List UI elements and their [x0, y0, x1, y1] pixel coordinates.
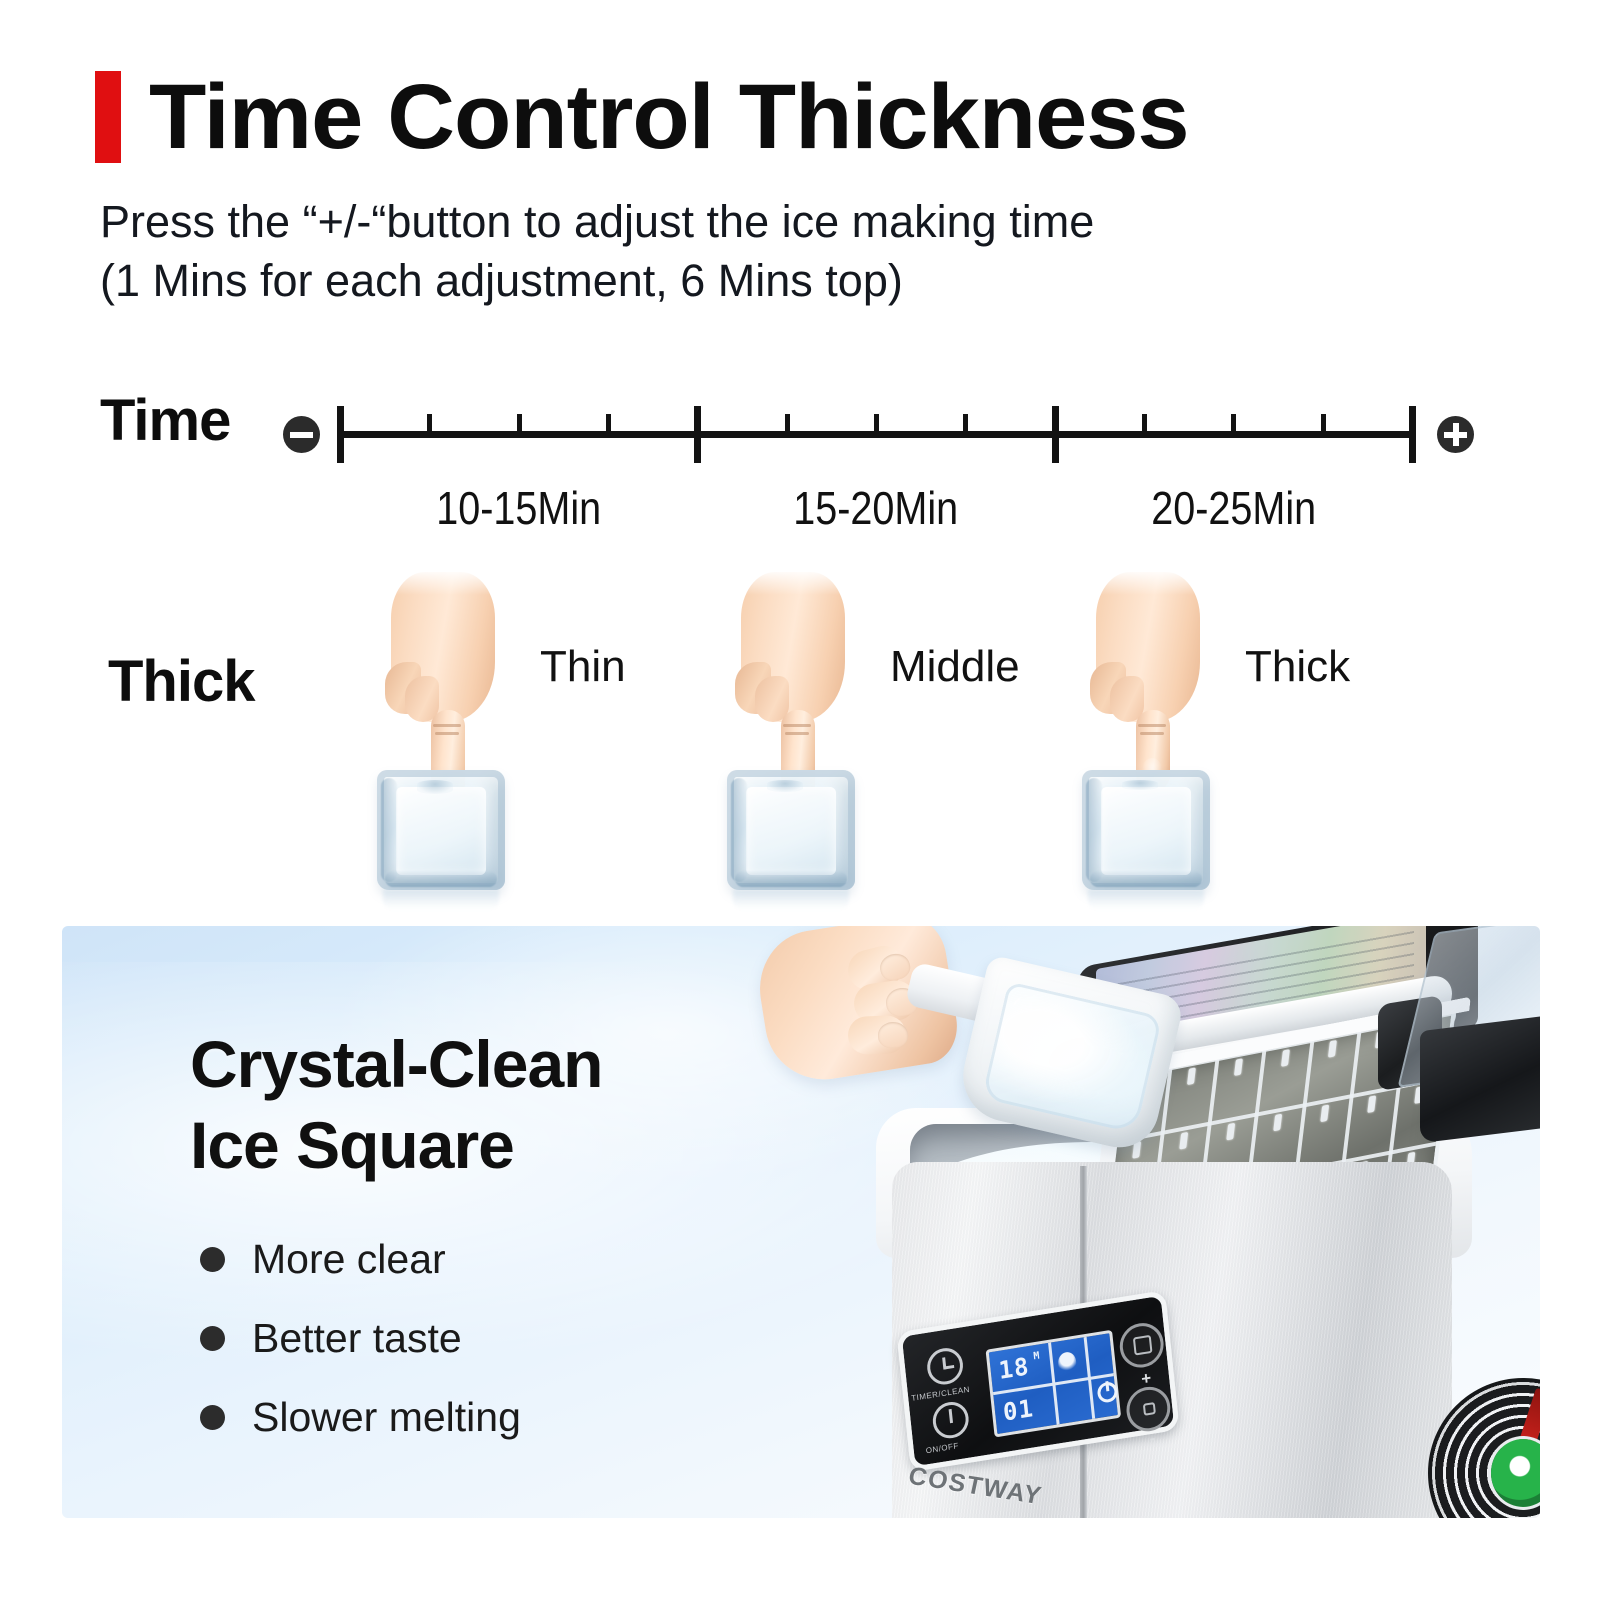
thickness-caption: Thick	[1245, 642, 1350, 692]
thickness-demo-thick: Thick	[1060, 570, 1390, 900]
list-item: Slower melting	[200, 1394, 521, 1441]
thickness-caption: Thin	[540, 642, 626, 692]
ruler-tick-minor	[874, 414, 879, 434]
list-item: More clear	[200, 1236, 521, 1283]
ruler-segment-label: 15-20Min	[722, 481, 1029, 535]
thickness-demo-middle: Middle	[705, 570, 1035, 900]
display-value-top-unit: M	[1033, 1350, 1041, 1362]
ruler-tick-major	[337, 406, 344, 463]
bullet-label: Better taste	[252, 1315, 462, 1362]
ruler-tick-major	[1052, 406, 1059, 463]
bullet-label: Slower melting	[252, 1394, 521, 1441]
ruler-tick-minor	[1231, 414, 1236, 434]
photo-title-line-2: Ice Square	[190, 1105, 603, 1186]
time-ruler-row: Time 10-15Min15-20Min20-25Min	[0, 385, 1600, 530]
ruler-tick-major	[1409, 406, 1416, 463]
ice-small-symbol: -	[1149, 1428, 1157, 1449]
minus-circle-icon[interactable]	[283, 416, 320, 453]
pointing-hand-icon	[383, 572, 503, 802]
list-item: Better taste	[200, 1315, 521, 1362]
holding-hand-icon	[762, 926, 1182, 1224]
ruler-tick-minor	[517, 414, 522, 434]
page-title: Time Control Thickness	[149, 71, 1189, 163]
plus-circle-icon[interactable]	[1437, 416, 1474, 453]
thickness-caption: Middle	[890, 642, 1020, 692]
ruler-tick-minor	[427, 414, 432, 434]
photo-panel-title: Crystal-Clean Ice Square	[190, 1024, 603, 1185]
ruler-tick-minor	[785, 414, 790, 434]
bullet-dot-icon	[200, 1247, 225, 1272]
display-value-top: 18	[997, 1352, 1030, 1385]
ice-cube-icon	[1082, 770, 1210, 890]
pointing-hand-icon	[733, 572, 853, 802]
ice-cube-large-icon[interactable]	[1118, 1320, 1166, 1371]
bullet-label: More clear	[252, 1236, 446, 1283]
thickness-row: Thick Thin	[0, 570, 1600, 900]
feature-bullet-list: More clear Better taste Slower melting	[200, 1236, 521, 1473]
photo-title-line-1: Crystal-Clean	[190, 1024, 603, 1105]
accent-bar	[95, 71, 121, 163]
power-button-label: ON/OFF	[925, 1441, 959, 1455]
ruler-axis	[340, 431, 1412, 438]
ruler-tick-minor	[606, 414, 611, 434]
subtitle-line-1: Press the “+/-“button to adjust the ice …	[100, 192, 1400, 251]
ice-cube-icon	[727, 770, 855, 890]
ice-cube-small-icon[interactable]	[1124, 1384, 1172, 1435]
ruler-tick-major	[694, 406, 701, 463]
ruler-segment-label: 20-25Min	[1080, 481, 1387, 535]
thickness-demo-thin: Thin	[355, 570, 685, 900]
lid-black-cap	[1420, 1013, 1540, 1143]
header: Time Control Thickness	[95, 62, 1515, 172]
lcd-display: 18 M 01	[986, 1330, 1122, 1438]
power-indicator-icon	[1097, 1381, 1119, 1404]
pointing-hand-icon	[1088, 572, 1208, 802]
infographic-root: Time Control Thickness Press the “+/-“bu…	[0, 0, 1600, 1600]
ruler-row-label: Time	[100, 387, 230, 454]
ice-scoop-icon	[875, 938, 1183, 1194]
ruler-segment-labels: 10-15Min15-20Min20-25Min	[0, 481, 1600, 536]
ice-indicator-icon	[1057, 1351, 1077, 1374]
ruler-tick-minor	[1142, 414, 1147, 434]
subtitle-line-2: (1 Mins for each adjustment, 6 Mins top)	[100, 251, 1400, 310]
ice-maker-machine: TIMER/CLEAN ON/OFF 18 M 01	[780, 926, 1540, 1518]
thickness-row-label: Thick	[108, 648, 255, 715]
ruler-tick-minor	[963, 414, 968, 434]
display-value-bottom: 01	[1002, 1394, 1035, 1427]
subtitle: Press the “+/-“button to adjust the ice …	[100, 192, 1400, 311]
ruler-segment-label: 10-15Min	[365, 481, 672, 535]
bullet-dot-icon	[200, 1405, 225, 1430]
bullet-dot-icon	[200, 1326, 225, 1351]
clock-icon[interactable]	[925, 1346, 964, 1387]
timer-button-label: TIMER/CLEAN	[911, 1385, 971, 1403]
power-icon[interactable]	[931, 1399, 970, 1440]
product-photo-panel: Crystal-Clean Ice Square More clear Bett…	[62, 926, 1540, 1518]
ruler-tick-minor	[1321, 414, 1326, 434]
ice-cube-icon	[377, 770, 505, 890]
